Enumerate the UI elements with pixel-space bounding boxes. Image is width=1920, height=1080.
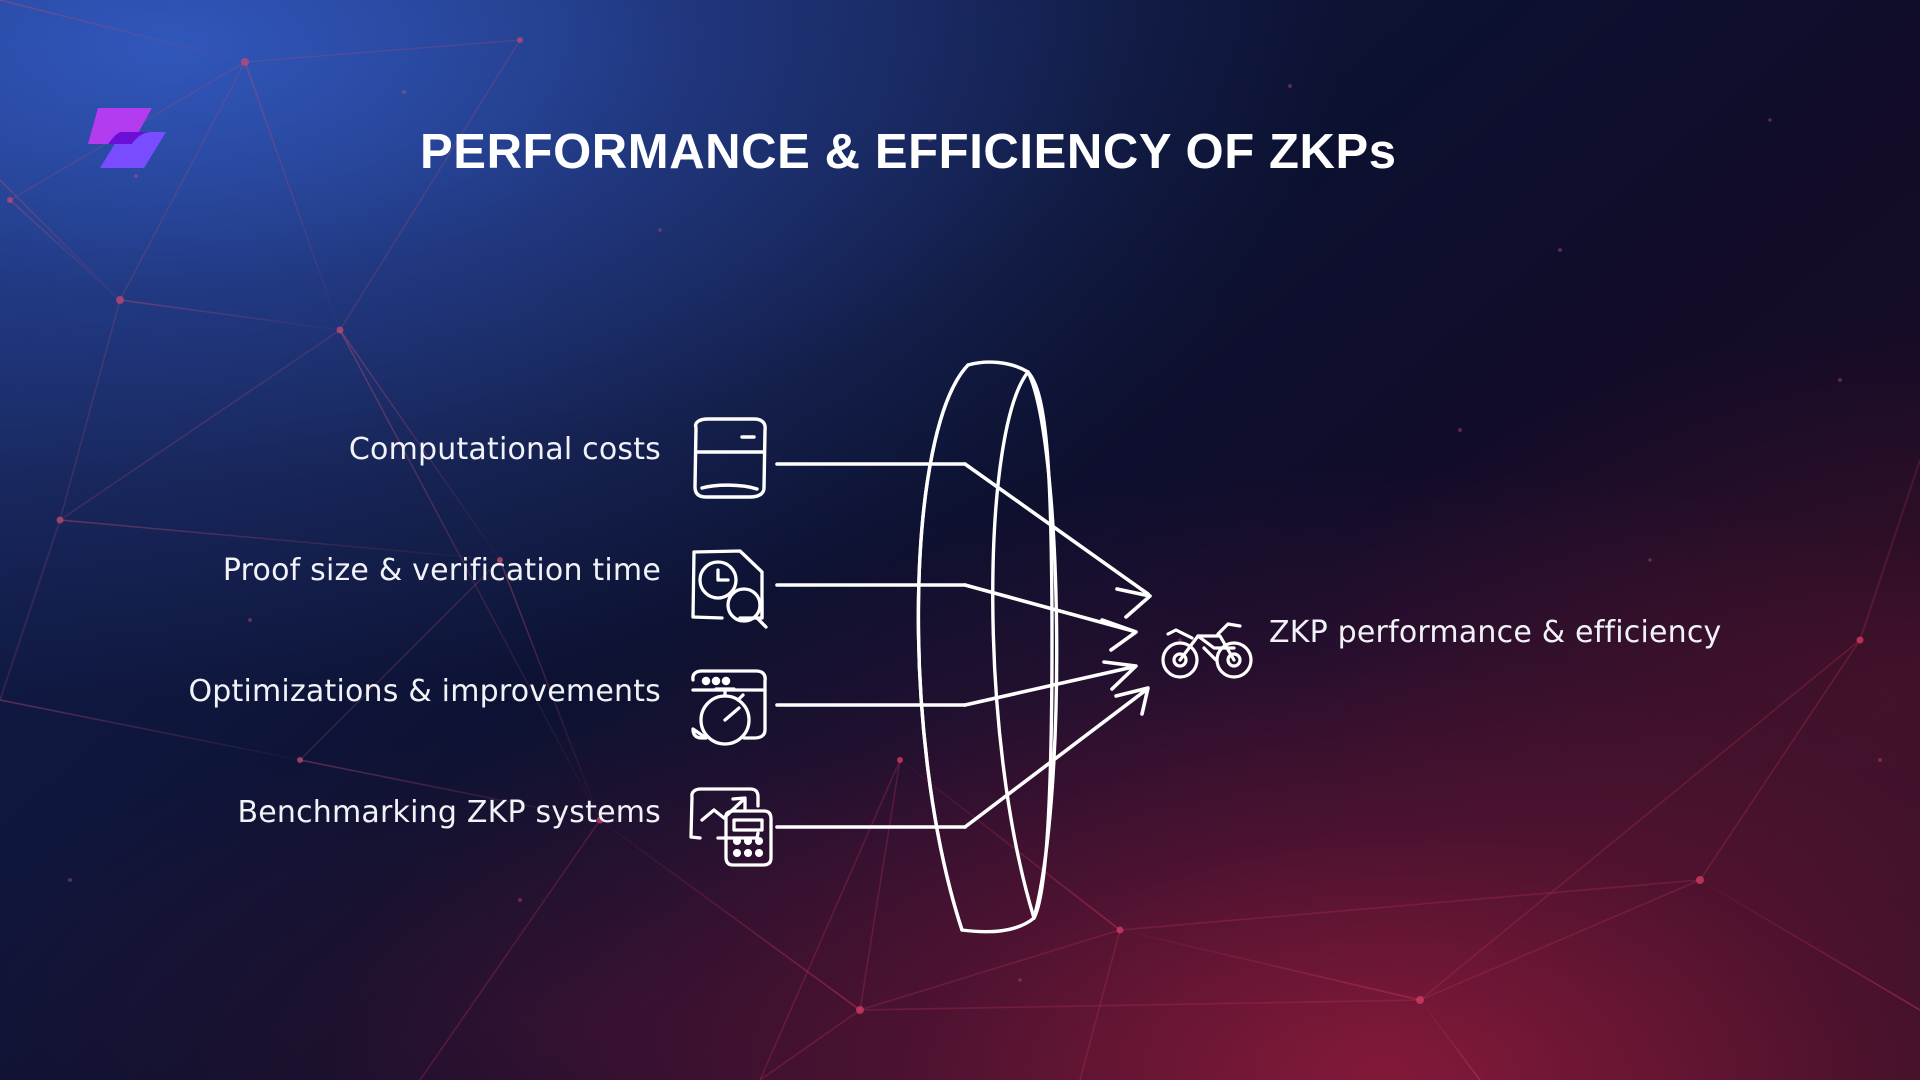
document-clock-search-icon [693, 551, 766, 627]
output-label: ZKP performance & efficiency [1269, 615, 1722, 650]
browser-stopwatch-icon [693, 671, 765, 744]
input-label-3: Optimizations & improvements [0, 674, 661, 709]
input-label-4: Benchmarking ZKP systems [0, 795, 661, 830]
lens-shape [918, 362, 1056, 932]
slide-canvas: PERFORMANCE & EFFICIENCY OF ZKPs [0, 0, 1920, 1080]
input-label-2: Proof size & verification time [0, 553, 661, 588]
chart-calculator-icon [691, 789, 771, 865]
diagram-canvas [0, 0, 1920, 1080]
motorcycle-icon [1163, 624, 1251, 677]
input-label-1: Computational costs [0, 432, 661, 467]
server-drawer-icon [695, 419, 765, 497]
